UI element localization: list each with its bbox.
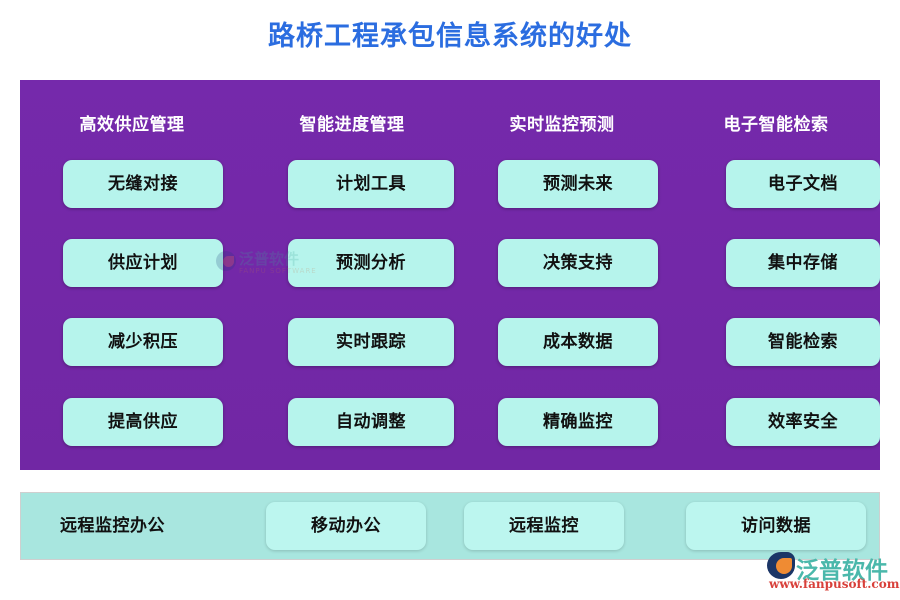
- matrix-card[interactable]: 无缝对接: [63, 160, 223, 208]
- matrix-column-4: 电子智能检索 电子文档 集中存储 智能检索 效率安全: [676, 80, 876, 470]
- matrix-card[interactable]: 实时跟踪: [288, 318, 454, 366]
- matrix-card[interactable]: 预测未来: [498, 160, 658, 208]
- brand-logo: 泛普软件 www.fanpusoft.com: [767, 551, 897, 595]
- remote-office-bar: 远程监控办公 移动办公 远程监控 访问数据: [20, 492, 880, 560]
- matrix-card[interactable]: 自动调整: [288, 398, 454, 446]
- matrix-card[interactable]: 提高供应: [63, 398, 223, 446]
- logo-website-url: www.fanpusoft.com: [769, 577, 899, 591]
- matrix-card[interactable]: 预测分析: [288, 239, 454, 287]
- logo-swoosh-icon: [767, 552, 795, 579]
- matrix-card[interactable]: 集中存储: [726, 239, 880, 287]
- matrix-card[interactable]: 精确监控: [498, 398, 658, 446]
- matrix-card[interactable]: 效率安全: [726, 398, 880, 446]
- matrix-card[interactable]: 成本数据: [498, 318, 658, 366]
- column-header-4: 电子智能检索: [676, 110, 876, 135]
- column-header-3: 实时监控预测: [458, 110, 666, 135]
- bottom-bar-card[interactable]: 远程监控: [464, 502, 624, 550]
- page-title: 路桥工程承包信息系统的好处: [0, 20, 900, 54]
- matrix-card[interactable]: 电子文档: [726, 160, 880, 208]
- matrix-card[interactable]: 减少积压: [63, 318, 223, 366]
- column-header-1: 高效供应管理: [28, 110, 236, 135]
- matrix-card[interactable]: 决策支持: [498, 239, 658, 287]
- bottom-bar-card[interactable]: 访问数据: [686, 502, 866, 550]
- bottom-bar-card[interactable]: 移动办公: [266, 502, 426, 550]
- matrix-card[interactable]: 计划工具: [288, 160, 454, 208]
- matrix-column-1: 高效供应管理 无缝对接 供应计划 减少积压 提高供应: [28, 80, 236, 470]
- matrix-card[interactable]: 智能检索: [726, 318, 880, 366]
- matrix-card[interactable]: 供应计划: [63, 239, 223, 287]
- bottom-bar-label: 远程监控办公: [60, 493, 165, 559]
- benefits-matrix-panel: 高效供应管理 无缝对接 供应计划 减少积压 提高供应 智能进度管理 计划工具 预…: [20, 80, 880, 470]
- column-header-2: 智能进度管理: [248, 110, 456, 135]
- matrix-column-2: 智能进度管理 计划工具 预测分析 实时跟踪 自动调整: [248, 80, 456, 470]
- matrix-column-3: 实时监控预测 预测未来 决策支持 成本数据 精确监控: [458, 80, 666, 470]
